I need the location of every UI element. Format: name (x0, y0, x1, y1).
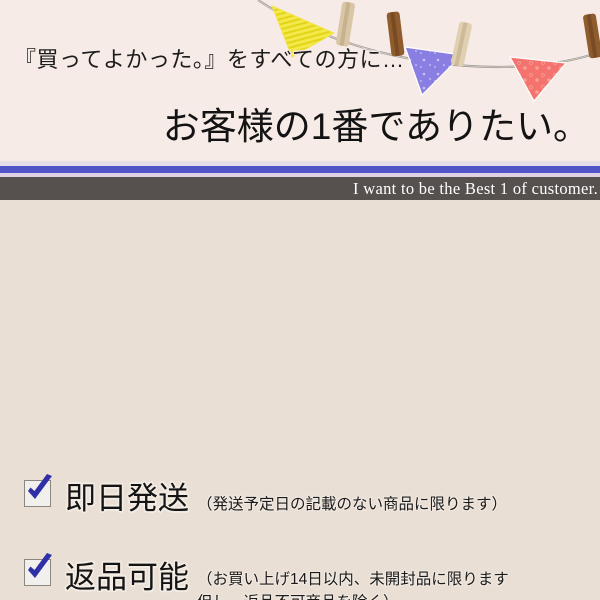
blue-stripe (0, 166, 600, 173)
feature-note: （お買い上げ14日以内、未開封品に限ります 但し、返品不可商品を除く） (197, 568, 509, 600)
checkbox-same-day-shipping (24, 480, 51, 507)
feature-same-day-shipping: 即日発送 （発送予定日の記載のない商品に限ります） (24, 473, 507, 518)
header-tagline: 『買ってよかった。』をすべての方に… (14, 42, 404, 74)
feature-title: 即日発送 (65, 473, 189, 518)
clothespin-icon-4 (583, 13, 600, 58)
feature-returns-accepted: 返品可能 （お買い上げ14日以内、未開封品に限ります 但し、返品不可商品を除く） (24, 552, 509, 600)
red-flag-icon (510, 57, 566, 101)
features-section: 即日発送 （発送予定日の記載のない商品に限ります） 返品可能 （お買い上げ14日… (0, 200, 600, 600)
clothespin-icon-1 (336, 1, 356, 46)
checkbox-returns-accepted (24, 559, 51, 586)
check-icon (21, 471, 57, 507)
feature-note-line-1: （お買い上げ14日以内、未開封品に限ります (197, 568, 509, 591)
feature-body: 返品可能 （お買い上げ14日以内、未開封品に限ります 但し、返品不可商品を除く） (65, 552, 509, 600)
check-icon (21, 550, 57, 586)
header-headline: お客様の1番でありたい。 (163, 96, 590, 150)
clothespin-icon-3 (451, 21, 473, 67)
english-banner: I want to be the Best 1 of customer. (0, 177, 600, 200)
feature-note: （発送予定日の記載のない商品に限ります） (197, 493, 507, 516)
english-banner-text: I want to be the Best 1 of customer. (353, 179, 598, 199)
feature-title: 返品可能 (65, 552, 189, 597)
feature-body: 即日発送 （発送予定日の記載のない商品に限ります） (65, 473, 507, 518)
promo-banner-page: 『買ってよかった。』をすべての方に… お客様の1番でありたい。 I want t… (0, 0, 600, 600)
feature-note-line-2: 但し、返品不可商品を除く） (197, 591, 509, 600)
header-section: 『買ってよかった。』をすべての方に… お客様の1番でありたい。 (0, 0, 600, 161)
purple-flag-icon (405, 47, 462, 95)
